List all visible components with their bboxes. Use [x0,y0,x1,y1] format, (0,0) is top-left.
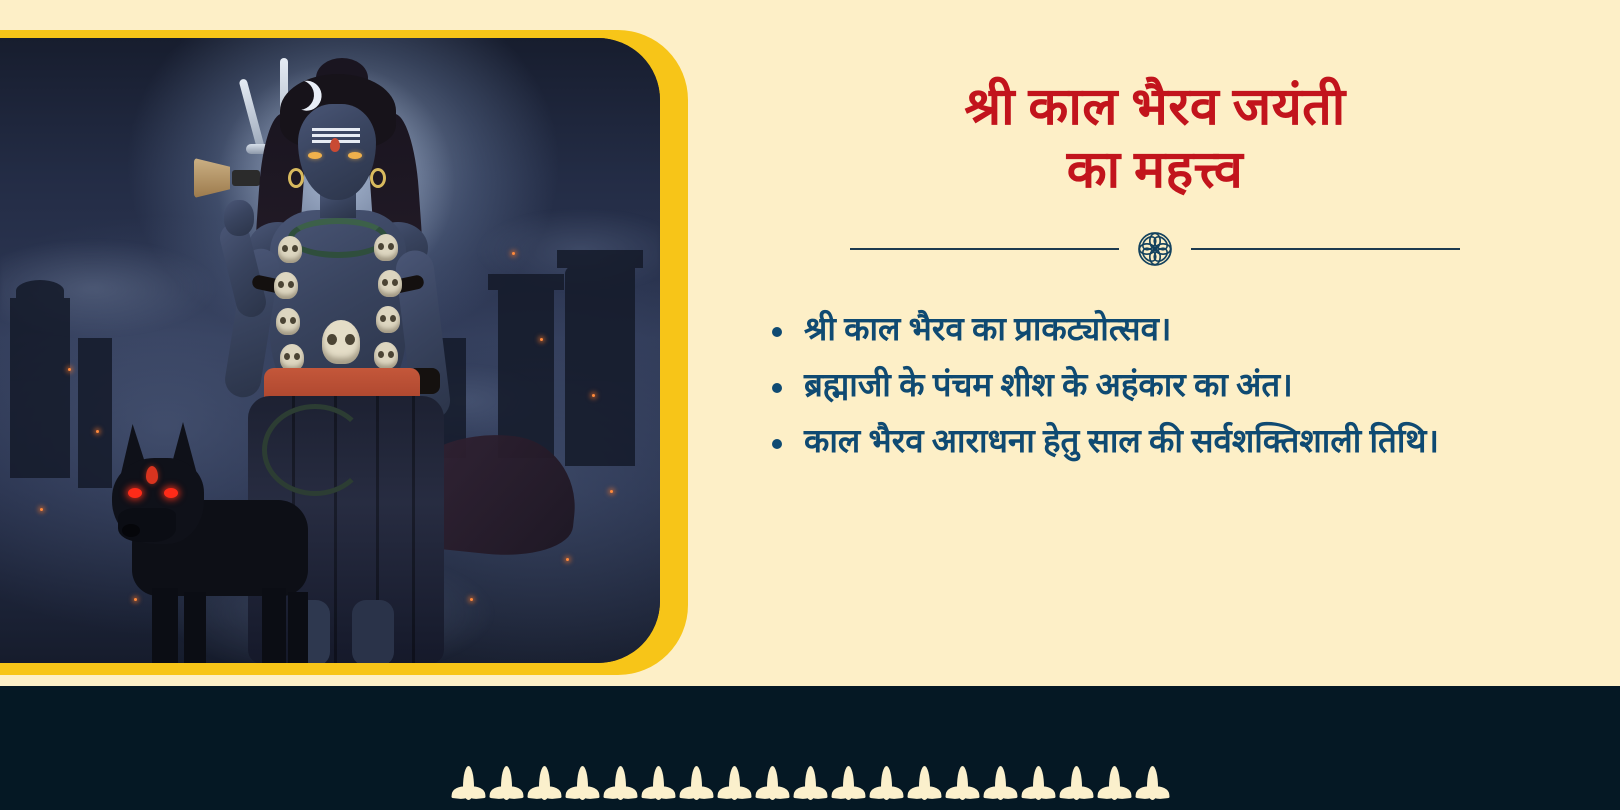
dog-forehead-mark [146,466,158,484]
page-title: श्री काल भैरव जयंती का महत्त्व [730,76,1580,203]
black-dog [112,410,312,663]
dog-eye-left [128,488,142,498]
list-item: काल भैरव आराधना हेतु साल की सर्वशक्तिशाल… [766,421,1466,464]
lotus-leaf-motif [873,766,899,810]
lotus-leaf-motif [1139,766,1165,810]
leg-right [352,600,394,663]
lotus-leaf-motif [721,766,747,810]
lotus-leaf-motif [607,766,633,810]
artwork-scene [0,38,660,663]
lotus-leaf-motif [645,766,671,810]
divider-line-left [850,248,1119,250]
bullet-list: श्री काल भैरव का प्राकट्योत्सव। ब्रह्माज… [766,309,1580,464]
lotus-leaf-motif [1101,766,1127,810]
lotus-leaf-motif [1025,766,1051,810]
lotus-leaf-motif [987,766,1013,810]
divider-line-right [1191,248,1460,250]
title-line-2: का महत्त्व [730,139,1580,202]
earring-left [288,168,304,188]
third-eye-icon [330,138,340,152]
lotus-leaf-motif [493,766,519,810]
lotus-leaf-motif [949,766,975,810]
lotus-leaf-motif [1063,766,1089,810]
lotus-leaf-motif [531,766,557,810]
dog-eye-right [164,488,178,498]
content-column: श्री काल भैरव जयंती का महत्त्व [730,76,1580,636]
tilak-marks [312,128,360,131]
poster-root: श्री काल भैरव जयंती का महत्त्व [0,0,1620,810]
motif-row [455,766,1165,810]
list-item: श्री काल भैरव का प्राकट्योत्सव। [766,309,1466,352]
eye-left [308,152,322,159]
list-item: ब्रह्माजी के पंचम शीश के अहंकार का अंत। [766,365,1466,408]
lotus-leaf-motif [835,766,861,810]
lotus-leaf-motif [683,766,709,810]
bottom-decorative-band [0,686,1620,810]
rosette-icon [1135,229,1175,269]
lotus-leaf-motif [569,766,595,810]
kaal-bhairav-image [0,38,660,663]
earring-right [370,168,386,188]
divider [850,229,1460,269]
title-line-1: श्री काल भैरव जयंती [964,79,1345,136]
artwork-panel [0,30,690,675]
hand-left [224,200,254,236]
lotus-leaf-motif [911,766,937,810]
lotus-leaf-motif [797,766,823,810]
lotus-leaf-motif [455,766,481,810]
lotus-leaf-motif [759,766,785,810]
eye-right [348,152,362,159]
